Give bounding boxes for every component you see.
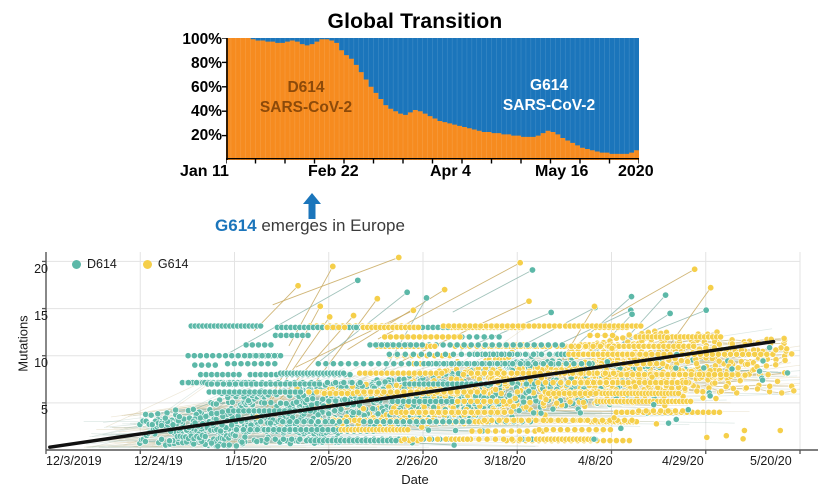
top-chart-y-axis: 100% 80% 60% 40% 20% — [150, 38, 222, 160]
scatter-x-tick-2: 1/15/20 — [225, 454, 267, 468]
x-tick-year: 2020 — [618, 163, 654, 181]
top-chart-y-axis-line — [219, 38, 228, 162]
legend-label-d614: D614 — [87, 258, 117, 271]
scatter-legend: D614 G614 — [72, 256, 188, 272]
g614-label-line1: G614 — [474, 76, 624, 96]
legend-dot-g614 — [143, 260, 152, 269]
scatter-y-tick-15: 15 — [22, 309, 48, 323]
mutations-scatter-panel: D614 G614 Mutations 20 15 10 5 12/3/2019… — [0, 240, 830, 488]
g614-label-line2: SARS-CoV-2 — [474, 96, 624, 116]
scatter-x-tick-5: 3/18/20 — [484, 454, 526, 468]
scatter-y-tick-5: 5 — [22, 403, 48, 417]
global-transition-panel: Global Transition 100% 80% 60% 40% 20% D… — [0, 0, 830, 240]
legend-label-g614: G614 — [158, 258, 189, 271]
scatter-x-axis-label: Date — [355, 472, 475, 487]
x-tick-may16: May 16 — [535, 163, 588, 181]
scatter-x-tick-3: 2/05/20 — [310, 454, 352, 468]
x-tick-apr4: Apr 4 — [430, 163, 471, 181]
d614-label-line2: SARS-CoV-2 — [236, 98, 376, 118]
annotation-highlight: G614 — [215, 216, 257, 235]
y-tick-40: 40% — [191, 104, 222, 120]
legend-dot-d614 — [72, 260, 81, 269]
d614-area-label: D614 SARS-CoV-2 — [236, 78, 376, 118]
y-tick-80: 80% — [191, 56, 222, 72]
scatter-x-tick-7: 4/29/20 — [662, 454, 704, 468]
legend-item-d614[interactable]: D614 — [72, 258, 117, 271]
y-tick-20: 20% — [191, 128, 222, 144]
annotation-text: G614 emerges in Europe — [0, 216, 620, 236]
y-tick-60: 60% — [191, 80, 222, 96]
scatter-x-tick-4: 2/26/20 — [396, 454, 438, 468]
d614-label-line1: D614 — [236, 78, 376, 98]
x-tick-feb22: Feb 22 — [308, 163, 359, 181]
scatter-y-tick-10: 10 — [22, 356, 48, 370]
scatter-x-tick-1: 12/24/19 — [134, 454, 183, 468]
scatter-x-tick-0: 12/3/2019 — [46, 454, 102, 468]
mutations-scatter-chart — [0, 240, 830, 488]
legend-item-g614[interactable]: G614 — [143, 258, 189, 271]
top-chart-x-labels: Jan 11 Feb 22 Apr 4 May 16 2020 — [180, 163, 680, 187]
annotation-rest: emerges in Europe — [257, 216, 405, 235]
scatter-x-tick-6: 4/8/20 — [578, 454, 613, 468]
scatter-y-tick-20: 20 — [22, 262, 48, 276]
scatter-x-tick-8: 5/20/20 — [750, 454, 792, 468]
y-tick-100: 100% — [182, 32, 222, 48]
x-tick-jan11: Jan 11 — [180, 163, 229, 181]
g614-area-label: G614 SARS-CoV-2 — [474, 76, 624, 116]
top-chart-title: Global Transition — [0, 10, 830, 34]
